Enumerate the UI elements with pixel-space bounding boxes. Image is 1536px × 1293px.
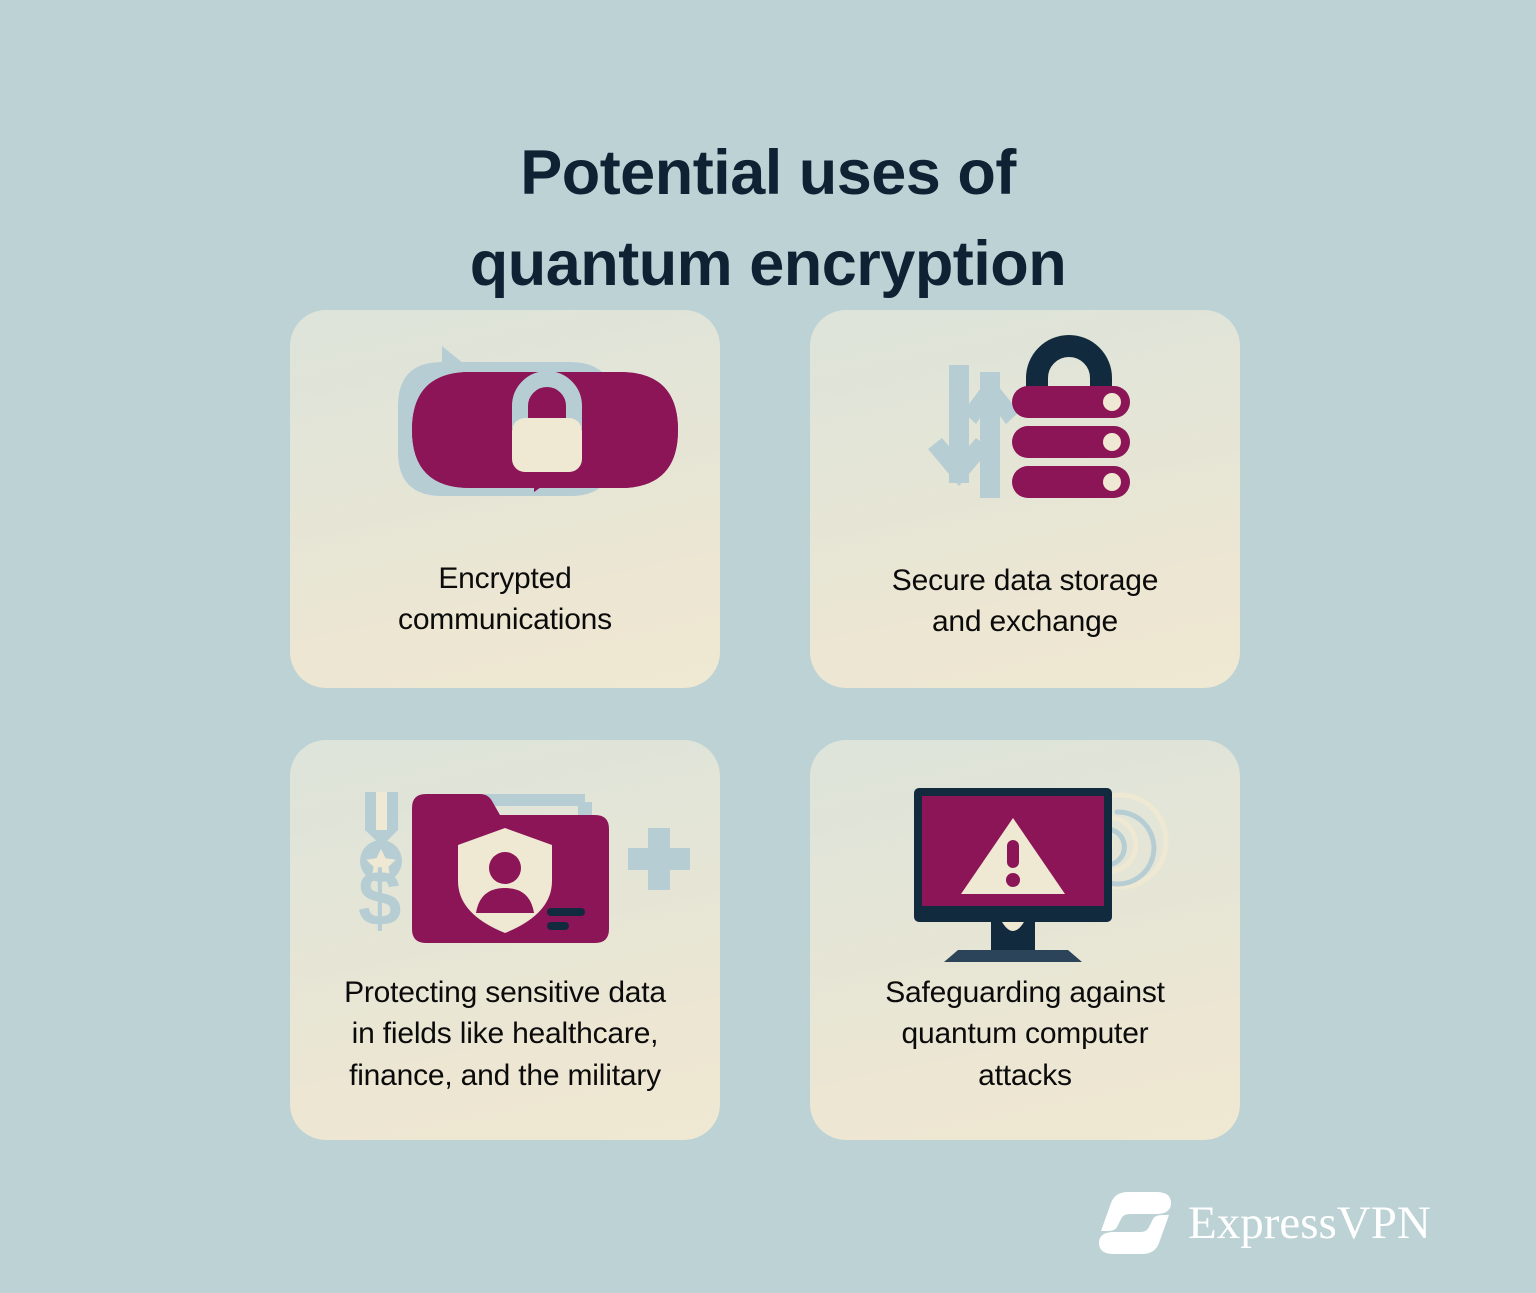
card-secure-data-storage: Secure data storage and exchange: [810, 310, 1240, 688]
folder-shield-icon: $: [290, 740, 720, 968]
caption-line-1: Protecting sensitive data: [290, 972, 720, 1013]
expressvpn-wordmark: ExpressVPN: [1188, 1200, 1431, 1247]
card-caption: Safeguarding against quantum computer at…: [810, 972, 1240, 1096]
card-caption: Protecting sensitive data in fields like…: [290, 972, 720, 1096]
card-protecting-sensitive-data: $: [290, 740, 720, 1140]
card-grid: $6^j8# Encrypted communications: [290, 310, 1230, 1140]
medical-plus-icon: [628, 828, 690, 890]
page-title-line-2: quantum encryption: [0, 219, 1536, 310]
card-caption: Secure data storage and exchange: [810, 560, 1240, 643]
caption-line-1: Safeguarding against: [810, 972, 1240, 1013]
card-safeguarding-against-attacks: Safeguarding against quantum computer at…: [810, 740, 1240, 1140]
caption-line-3: attacks: [810, 1055, 1240, 1096]
page-title: Potential uses of quantum encryption: [0, 128, 1536, 309]
caption-line-1: Encrypted: [290, 558, 720, 599]
monitor-warning-signal-icon: [810, 740, 1240, 968]
caption-line-2: and exchange: [810, 601, 1240, 642]
card-encrypted-communications: $6^j8# Encrypted communications: [290, 310, 720, 688]
card-caption: Encrypted communications: [290, 558, 720, 641]
caption-line-1: Secure data storage: [810, 560, 1240, 601]
caption-line-2: quantum computer: [810, 1013, 1240, 1054]
speech-bubbles-lock-icon: $6^j8#: [290, 310, 720, 550]
padlock-server-exchange-icon: [810, 310, 1240, 550]
svg-text:$: $: [358, 854, 401, 942]
expressvpn-logo[interactable]: ExpressVPN: [1098, 1185, 1428, 1261]
caption-line-3: finance, and the military: [290, 1055, 720, 1096]
page-title-line-1: Potential uses of: [0, 128, 1536, 219]
dollar-sign-icon: $: [358, 854, 401, 942]
caption-line-2: in fields like healthcare,: [290, 1013, 720, 1054]
expressvpn-e-mark-icon: [1098, 1190, 1172, 1256]
infographic-root: Potential uses of quantum encryption: [0, 0, 1536, 1293]
caption-line-2: communications: [290, 599, 720, 640]
